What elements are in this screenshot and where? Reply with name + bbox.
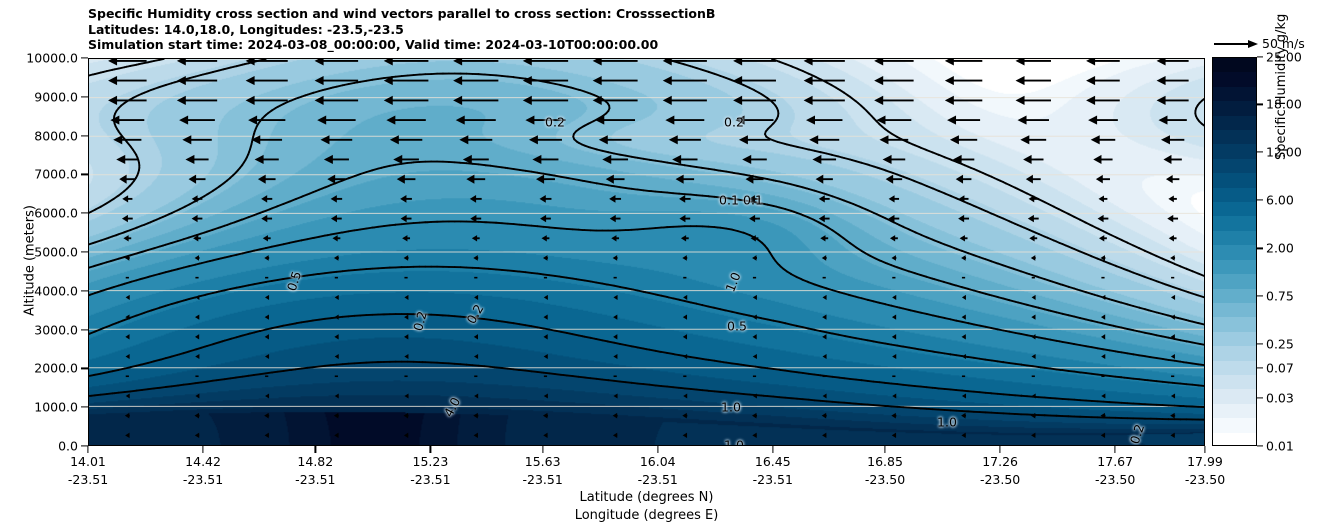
- colorbar-segment: [1213, 173, 1256, 188]
- y-tick-label: 2000.0: [34, 361, 78, 376]
- colorbar-tick-label: 2.00: [1266, 241, 1294, 256]
- y-tick-mark: [81, 368, 88, 369]
- colorbar-tick-mark: [1257, 296, 1263, 297]
- wind-vectors: [89, 59, 1204, 445]
- x-tick-label-latitude: 17.67: [1097, 454, 1133, 469]
- colorbar-tick-mark: [1257, 56, 1263, 57]
- x-tick-label-longitude: -23.51: [523, 472, 563, 487]
- y-tick-label: 4000.0: [34, 283, 78, 298]
- x-axis: Latitude (degrees N) Longitude (degrees …: [88, 446, 1205, 526]
- y-tick-mark: [81, 174, 88, 175]
- x-tick-mark: [1000, 446, 1001, 453]
- x-tick-mark: [315, 446, 316, 453]
- x-tick-mark: [430, 446, 431, 453]
- x-tick-label-latitude: 17.26: [982, 454, 1018, 469]
- y-tick-label: 7000.0: [34, 167, 78, 182]
- colorbar-tick-mark: [1257, 152, 1263, 153]
- colorbar-tick-mark: [1257, 343, 1263, 344]
- colorbar-segment: [1213, 361, 1256, 376]
- x-tick-label-latitude: 15.63: [525, 454, 561, 469]
- colorbar-tick-label: 0.25: [1266, 337, 1294, 352]
- colorbar-segment: [1213, 159, 1256, 174]
- y-tick-label: 9000.0: [34, 89, 78, 104]
- colorbar-tick-label: 0.01: [1266, 439, 1294, 454]
- x-tick-mark: [1115, 446, 1116, 453]
- title-line-3: Simulation start time: 2024-03-08_00:00:…: [88, 37, 1188, 53]
- x-tick-label-longitude: -23.51: [295, 472, 335, 487]
- x-tick-label-latitude: 16.85: [867, 454, 903, 469]
- y-tick-mark: [81, 96, 88, 97]
- y-tick-label: 1000.0: [34, 400, 78, 415]
- colorbar-tick-label: 0.75: [1266, 289, 1294, 304]
- colorbar-tick-mark: [1257, 445, 1263, 446]
- colorbar-segment: [1213, 231, 1256, 246]
- colorbar-tick-mark: [1257, 104, 1263, 105]
- y-tick-label: 0.0: [58, 439, 78, 454]
- x-tick-label-latitude: 17.99: [1187, 454, 1223, 469]
- colorbar-tick-mark: [1257, 368, 1263, 369]
- colorbar-segment: [1213, 433, 1256, 446]
- colorbar-segment: [1213, 389, 1256, 404]
- x-tick-label-latitude: 16.04: [640, 454, 676, 469]
- colorbar-segment: [1213, 116, 1256, 131]
- y-tick-mark: [81, 213, 88, 214]
- colorbar-segment: [1213, 72, 1256, 87]
- x-axis-label-latitude: Latitude (degrees N): [88, 490, 1205, 505]
- x-tick-mark: [87, 446, 88, 453]
- wind-key-arrow-icon: [1212, 36, 1260, 52]
- colorbar-segment: [1213, 418, 1256, 433]
- x-tick-mark: [884, 446, 885, 453]
- colorbar-segment: [1213, 130, 1256, 145]
- y-axis: Altitude (meters) 0.01000.02000.03000.04…: [0, 58, 88, 446]
- cross-section-plot[interactable]: 0.20.20.10.10.51.00.20.20.51.04.01.00.20…: [88, 58, 1205, 446]
- colorbar-segment: [1213, 202, 1256, 217]
- colorbar-ticks: 25.0018.0012.006.002.000.750.250.070.030…: [1257, 57, 1326, 446]
- colorbar-segment: [1213, 317, 1256, 332]
- colorbar-tick-label: 6.00: [1266, 193, 1294, 208]
- colorbar-tick-label: 0.07: [1266, 361, 1294, 376]
- title-block: Specific Humidity cross section and wind…: [88, 6, 1188, 53]
- x-tick-label-latitude: 14.42: [185, 454, 221, 469]
- colorbar-tick-mark: [1257, 248, 1263, 249]
- y-tick-mark: [81, 290, 88, 291]
- colorbar-segment: [1213, 346, 1256, 361]
- x-tick-label-latitude: 14.82: [297, 454, 333, 469]
- contour-label: 1.0: [937, 415, 957, 430]
- y-tick-mark: [81, 135, 88, 136]
- x-tick-label-longitude: -23.50: [1095, 472, 1135, 487]
- wind-vector-key: 50 m/s: [1212, 36, 1326, 56]
- x-tick-label-longitude: -23.50: [980, 472, 1020, 487]
- y-tick-label: 6000.0: [34, 206, 78, 221]
- colorbar-segment: [1213, 58, 1256, 73]
- x-tick-label-longitude: -23.51: [410, 472, 450, 487]
- contour-label: 0.2: [545, 115, 565, 130]
- colorbar-segment: [1213, 87, 1256, 102]
- colorbar-segment: [1213, 289, 1256, 304]
- colorbar-segment: [1213, 144, 1256, 159]
- x-tick-label-longitude: -23.51: [753, 472, 793, 487]
- colorbar: [1212, 57, 1257, 446]
- contour-label: 0.1: [719, 193, 739, 208]
- colorbar-tick-mark: [1257, 398, 1263, 399]
- x-tick-label-longitude: -23.50: [865, 472, 905, 487]
- x-tick-mark: [772, 446, 773, 453]
- colorbar-segment: [1213, 404, 1256, 419]
- x-tick-mark: [1204, 446, 1205, 453]
- colorbar-segment: [1213, 101, 1256, 116]
- colorbar-segment: [1213, 375, 1256, 390]
- colorbar-segment: [1213, 216, 1256, 231]
- colorbar-segment: [1213, 303, 1256, 318]
- colorbar-segment: [1213, 245, 1256, 260]
- y-tick-label: 5000.0: [34, 245, 78, 260]
- y-tick-label: 10000.0: [26, 51, 78, 66]
- colorbar-segment: [1213, 332, 1256, 347]
- x-tick-mark: [657, 446, 658, 453]
- x-tick-mark: [202, 446, 203, 453]
- y-tick-mark: [81, 251, 88, 252]
- x-axis-label-longitude: Longitude (degrees E): [88, 508, 1205, 523]
- x-tick-label-longitude: -23.51: [638, 472, 678, 487]
- colorbar-segment: [1213, 274, 1256, 289]
- colorbar-segment: [1213, 188, 1256, 203]
- colorbar-tick-label: 0.03: [1266, 391, 1294, 406]
- contour-label: 1.0: [721, 400, 741, 415]
- wind-key-label: 50 m/s: [1262, 36, 1305, 51]
- x-tick-label-latitude: 15.23: [412, 454, 448, 469]
- contour-label: 0.1: [743, 193, 763, 208]
- title-line-1: Specific Humidity cross section and wind…: [88, 6, 1188, 22]
- colorbar-segment: [1213, 260, 1256, 275]
- x-tick-mark: [542, 446, 543, 453]
- colorbar-tick-mark: [1257, 200, 1263, 201]
- y-tick-mark: [81, 329, 88, 330]
- x-tick-label-latitude: 16.45: [755, 454, 791, 469]
- contour-label: 0.2: [724, 115, 744, 130]
- x-tick-label-longitude: -23.50: [1185, 472, 1225, 487]
- contour-label: 0.5: [727, 319, 747, 334]
- x-tick-label-latitude: 14.01: [70, 454, 106, 469]
- x-tick-label-longitude: -23.51: [183, 472, 223, 487]
- y-tick-mark: [81, 57, 88, 58]
- x-tick-label-longitude: -23.51: [68, 472, 108, 487]
- y-tick-label: 8000.0: [34, 128, 78, 143]
- y-tick-mark: [81, 407, 88, 408]
- title-line-2: Latitudes: 14.0,18.0, Longitudes: -23.5,…: [88, 22, 1188, 38]
- y-tick-label: 3000.0: [34, 322, 78, 337]
- contour-label: 1.0: [724, 438, 744, 447]
